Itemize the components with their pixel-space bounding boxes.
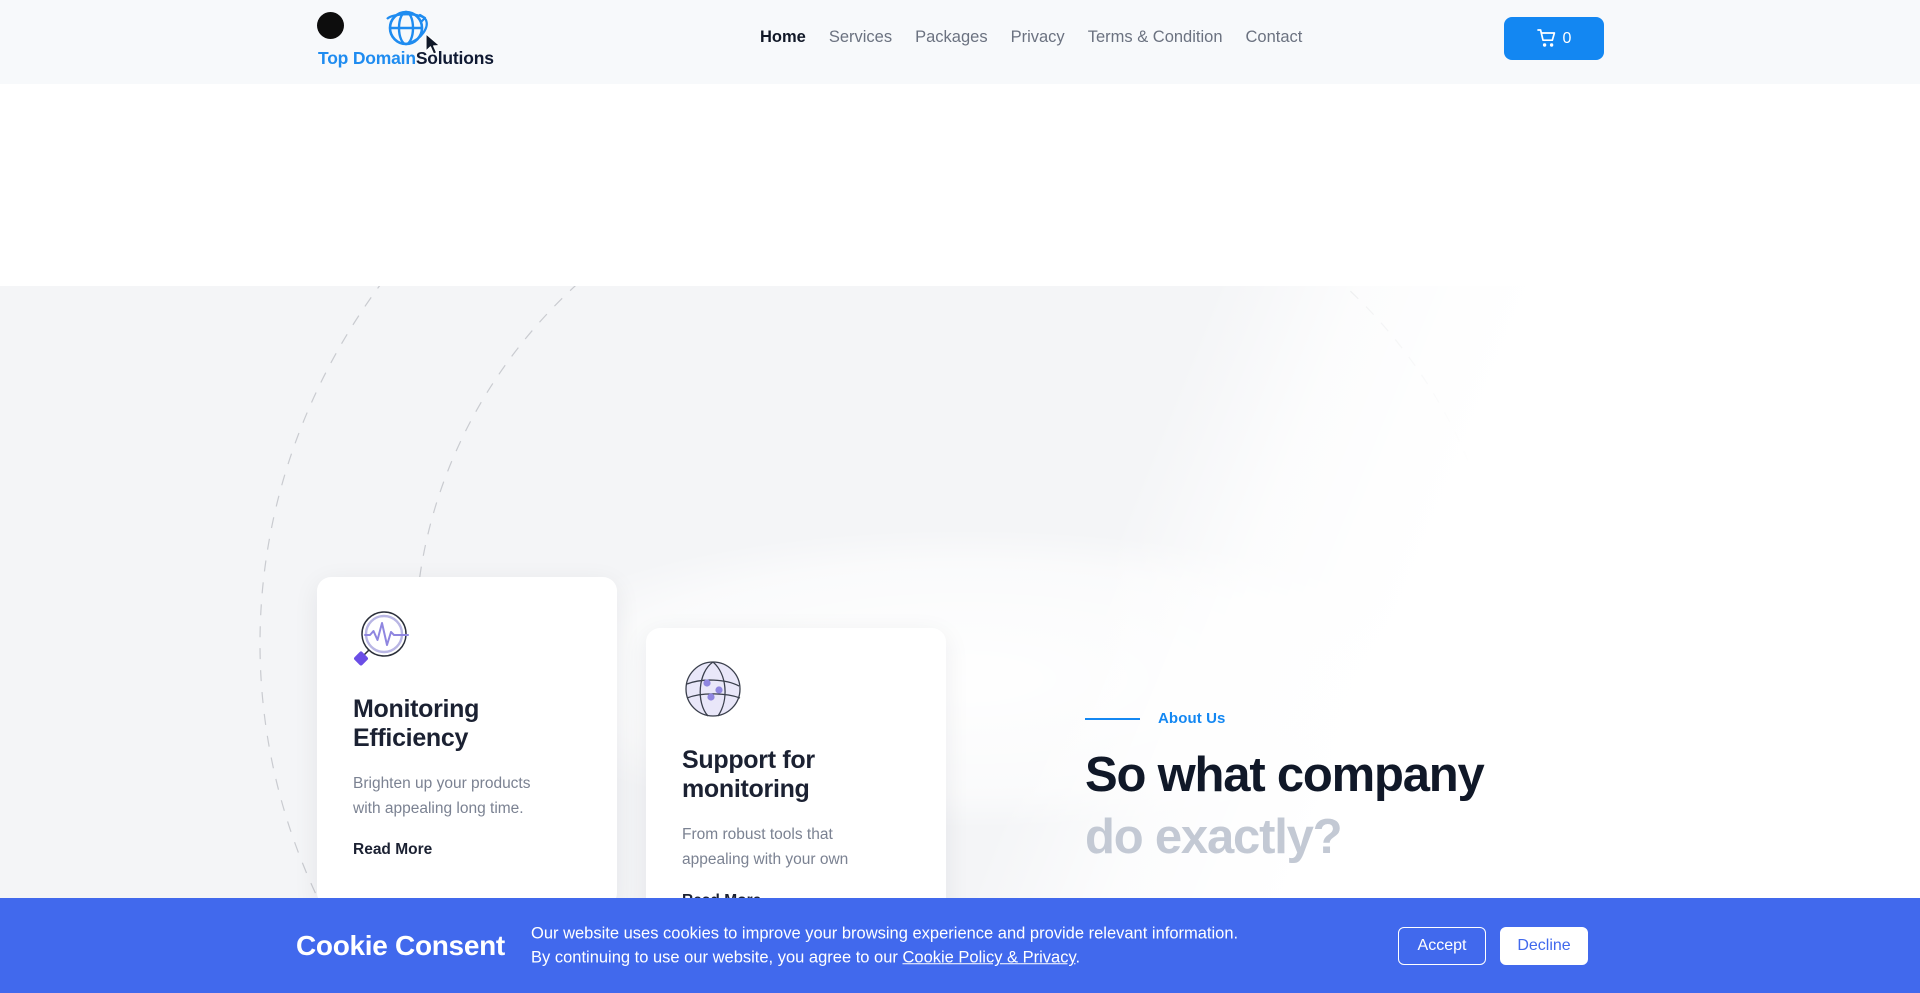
- card-title: Monitoring Efficiency: [353, 695, 581, 753]
- card-description: From robust tools that appealing with yo…: [682, 822, 910, 872]
- about-eyebrow-label: About Us: [1158, 710, 1225, 727]
- about-title-line-2: do exactly?: [1085, 811, 1484, 865]
- hero-band: [0, 84, 1920, 286]
- cookie-consent-body: Our website uses cookies to improve your…: [531, 921, 1238, 971]
- monitoring-magnifier-pulse-icon: [353, 607, 581, 673]
- main-navigation: Home Services Packages Privacy Terms & C…: [760, 28, 1302, 47]
- nav-item-terms-condition[interactable]: Terms & Condition: [1088, 28, 1223, 47]
- cart-count: 0: [1563, 30, 1572, 48]
- cookie-body-line-2-suffix: .: [1076, 949, 1081, 967]
- decorative-white-wedge: [0, 286, 1920, 993]
- globe-network-icon: [682, 658, 910, 724]
- nav-item-packages[interactable]: Packages: [915, 28, 987, 47]
- logo-text-primary: Top Domain: [318, 48, 416, 68]
- cookie-policy-privacy-link[interactable]: Cookie Policy & Privacy: [902, 949, 1075, 967]
- nav-item-services[interactable]: Services: [829, 28, 892, 47]
- site-logo[interactable]: Top DomainSolutions: [318, 4, 494, 68]
- cookie-consent-actions: Accept Decline: [1398, 927, 1588, 965]
- logo-text: Top DomainSolutions: [318, 50, 494, 68]
- eyebrow-divider-line: [1085, 718, 1140, 720]
- nav-item-contact[interactable]: Contact: [1246, 28, 1303, 47]
- nav-item-home[interactable]: Home: [760, 28, 806, 47]
- feature-card-monitoring-efficiency[interactable]: Monitoring Efficiency Brighten up your p…: [317, 577, 617, 907]
- card-read-more-link[interactable]: Read More: [353, 841, 432, 859]
- mouse-cursor-icon: [425, 33, 443, 57]
- shopping-cart-icon: [1537, 29, 1557, 48]
- card-title: Support for monitoring: [682, 746, 910, 804]
- cart-button[interactable]: 0: [1504, 17, 1604, 60]
- site-header: Top DomainSolutions Home Services Packag…: [0, 0, 1920, 84]
- cursor-blob: [317, 12, 344, 39]
- about-section-background: [0, 286, 1920, 993]
- cookie-body-line-1: Our website uses cookies to improve your…: [531, 924, 1238, 942]
- cookie-body-line-2-prefix: By continuing to use our website, you ag…: [531, 949, 902, 967]
- card-description: Brighten up your products with appealing…: [353, 771, 581, 821]
- accept-button[interactable]: Accept: [1398, 927, 1486, 965]
- cookie-consent-banner: Cookie Consent Our website uses cookies …: [0, 898, 1920, 993]
- about-eyebrow-row: About Us: [1085, 710, 1484, 727]
- decline-button[interactable]: Decline: [1500, 927, 1588, 965]
- about-us-block: About Us So what company do exactly?: [1085, 710, 1484, 865]
- nav-item-privacy[interactable]: Privacy: [1011, 28, 1065, 47]
- page-root: Monitoring Efficiency Brighten up your p…: [0, 0, 1920, 993]
- about-title-line-1: So what company: [1085, 749, 1484, 803]
- cookie-consent-title: Cookie Consent: [296, 930, 505, 962]
